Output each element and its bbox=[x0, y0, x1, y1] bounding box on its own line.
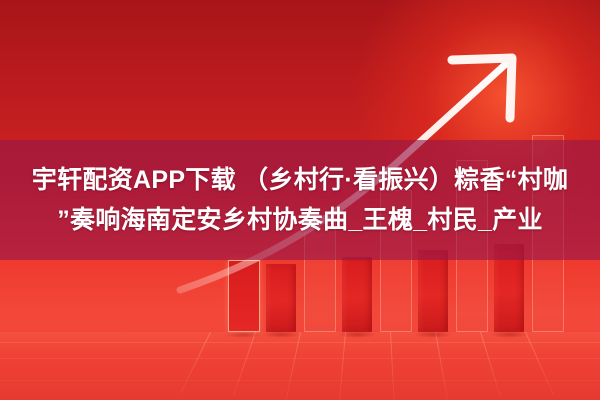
headline: 宇轩配资APP下载 （乡村行·看振兴）粽香“村咖 ”奏响海南定安乡村协奏曲_王槐… bbox=[0, 140, 600, 260]
bar-1 bbox=[228, 260, 260, 332]
bar-2 bbox=[266, 264, 296, 332]
headline-line-1: 宇轩配资APP下载 （乡村行·看振兴）粽香“村咖 bbox=[32, 160, 568, 200]
bar-6 bbox=[418, 250, 448, 332]
promo-banner: 宇轩配资APP下载 （乡村行·看振兴）粽香“村咖 ”奏响海南定安乡村协奏曲_王槐… bbox=[0, 0, 600, 400]
bar-4 bbox=[342, 257, 372, 332]
headline-line-2: ”奏响海南定安乡村协奏曲_王槐_村民_产业 bbox=[57, 200, 543, 240]
